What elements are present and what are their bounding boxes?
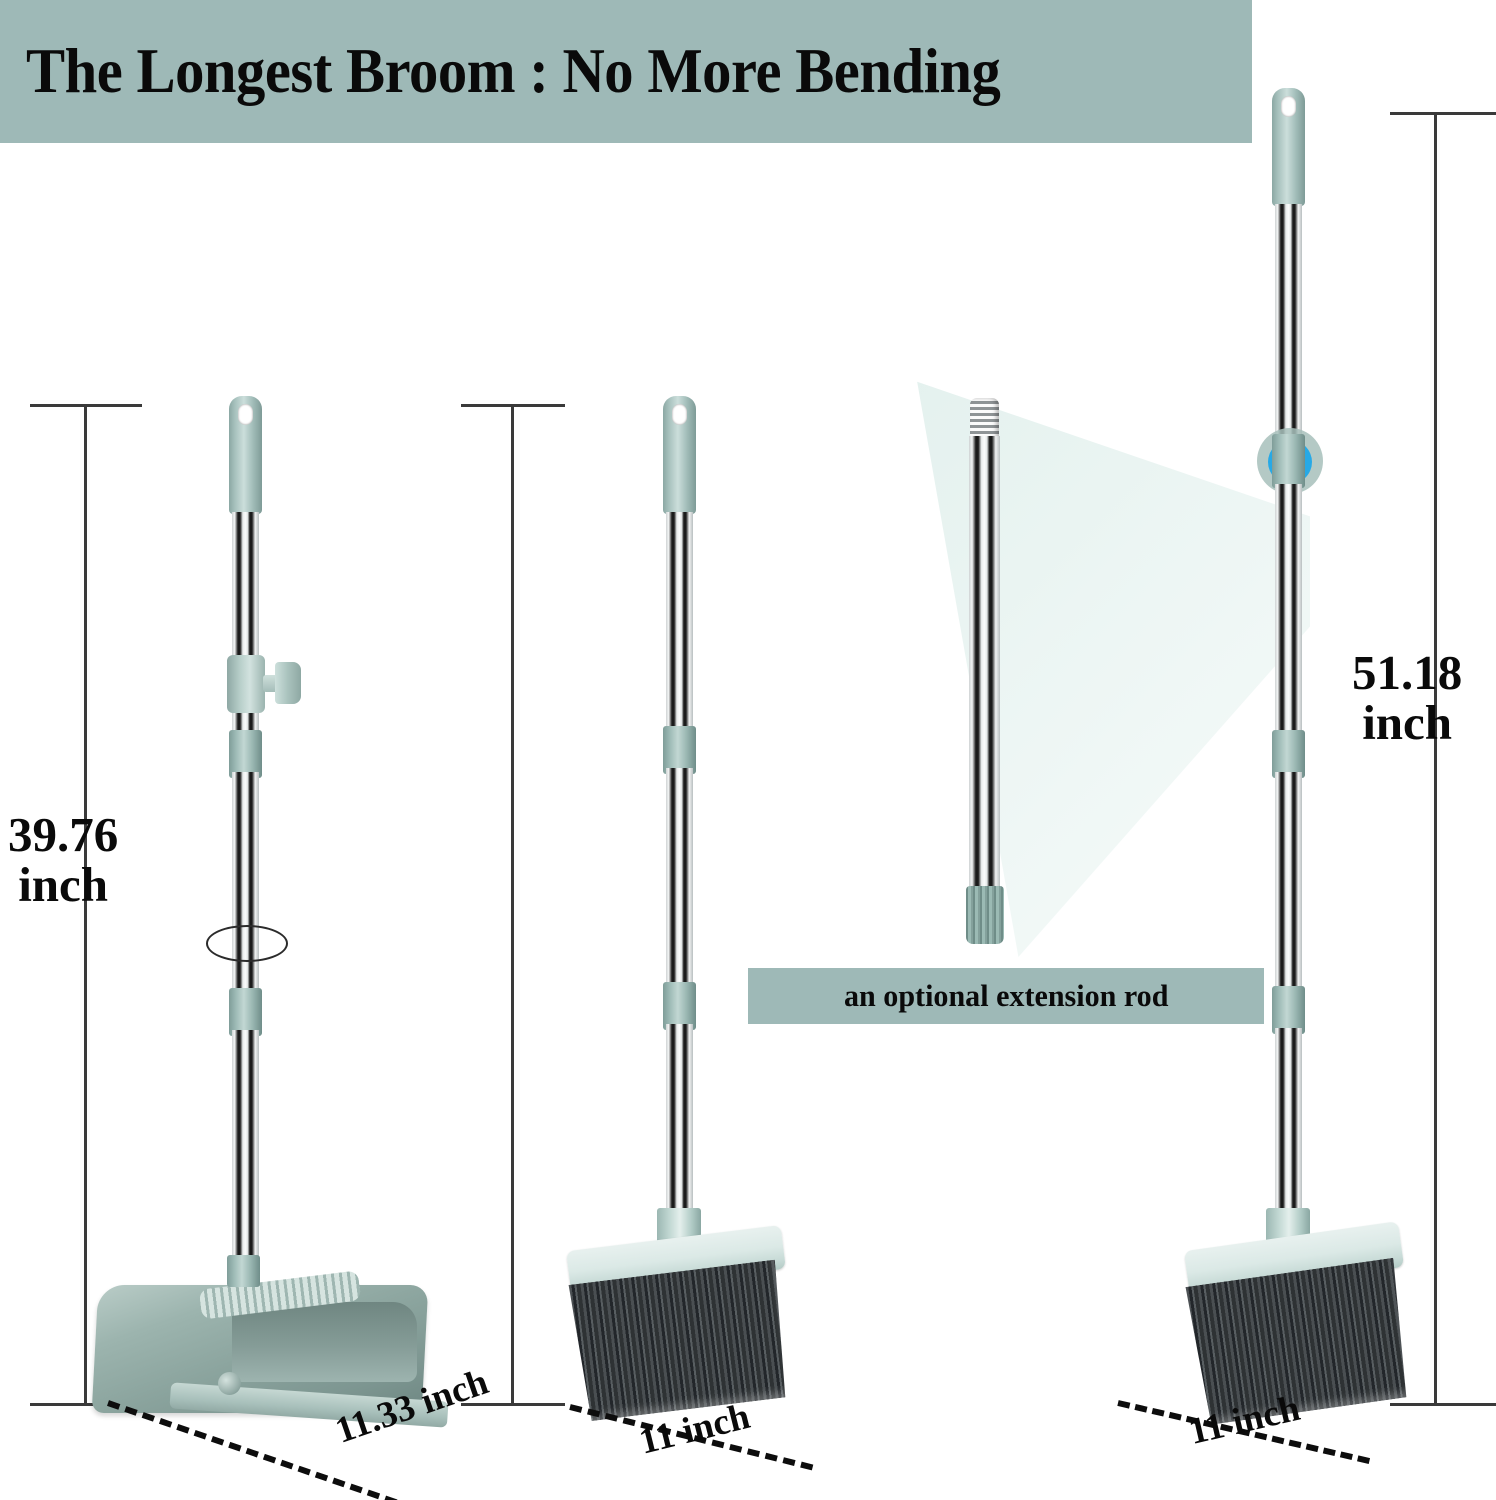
clip-bracket-base bbox=[227, 655, 265, 713]
stainless-pole-middle bbox=[232, 772, 259, 1000]
dustpan-release-knob bbox=[218, 1372, 241, 1395]
joint-collar-3-upper bbox=[1272, 730, 1305, 778]
title-banner: The Longest Broom : No More Bending bbox=[0, 0, 1252, 143]
right-dimension-line bbox=[1434, 112, 1437, 1405]
right-dimension-bottom-cap bbox=[1390, 1403, 1496, 1406]
stainless-pole-2-middle bbox=[666, 768, 693, 986]
extension-rod-threaded-tip bbox=[970, 398, 999, 440]
stainless-pole-3-upper bbox=[1275, 204, 1302, 444]
extension-rod-tube bbox=[969, 436, 1000, 892]
hanging-hole-2 bbox=[672, 404, 687, 425]
middle-dimension-line bbox=[511, 404, 514, 1405]
stainless-pole-lower bbox=[232, 1030, 259, 1265]
right-height-label: 51.18 inch bbox=[1352, 648, 1462, 748]
extension-joint-collar bbox=[1272, 434, 1305, 488]
joint-collar-3-lower bbox=[1272, 986, 1305, 1034]
joint-collar-lower bbox=[229, 988, 262, 1036]
rotation-ring-icon bbox=[206, 925, 288, 962]
hanging-hole bbox=[238, 404, 253, 425]
joint-collar-2-upper bbox=[663, 726, 696, 774]
stainless-pole-3-upper-mid bbox=[1275, 484, 1302, 734]
left-height-unit: inch bbox=[8, 860, 118, 910]
right-height-value: 51.18 bbox=[1352, 648, 1462, 698]
joint-collar-2-lower bbox=[663, 982, 696, 1030]
product-infographic: The Longest Broom : No More Bending 39.7… bbox=[0, 0, 1496, 1500]
stainless-pole-3-middle bbox=[1275, 772, 1302, 990]
dustpan-mouth bbox=[232, 1302, 417, 1382]
extension-rod-caption: an optional extension rod bbox=[844, 978, 1168, 1014]
callout-beam bbox=[905, 345, 1310, 957]
stainless-pole-2-upper bbox=[666, 512, 693, 730]
stainless-pole-2-lower bbox=[666, 1024, 693, 1214]
left-height-label: 39.76 inch bbox=[8, 810, 118, 910]
joint-collar-upper bbox=[229, 730, 262, 778]
page-title: The Longest Broom : No More Bending bbox=[26, 40, 1000, 103]
left-height-value: 39.76 bbox=[8, 810, 118, 860]
extension-rod-caption-banner: an optional extension rod bbox=[748, 968, 1264, 1024]
dustpan-pole-ferrule bbox=[227, 1255, 260, 1287]
hanging-hole-3 bbox=[1281, 96, 1296, 117]
right-height-unit: inch bbox=[1352, 698, 1462, 748]
right-dimension-top-cap bbox=[1390, 112, 1496, 115]
extension-rod-ferrule bbox=[966, 886, 1004, 944]
stainless-pole-3-lower bbox=[1275, 1028, 1302, 1214]
clip-bracket-cup bbox=[275, 662, 301, 704]
broom-bristles-2 bbox=[564, 1260, 791, 1423]
